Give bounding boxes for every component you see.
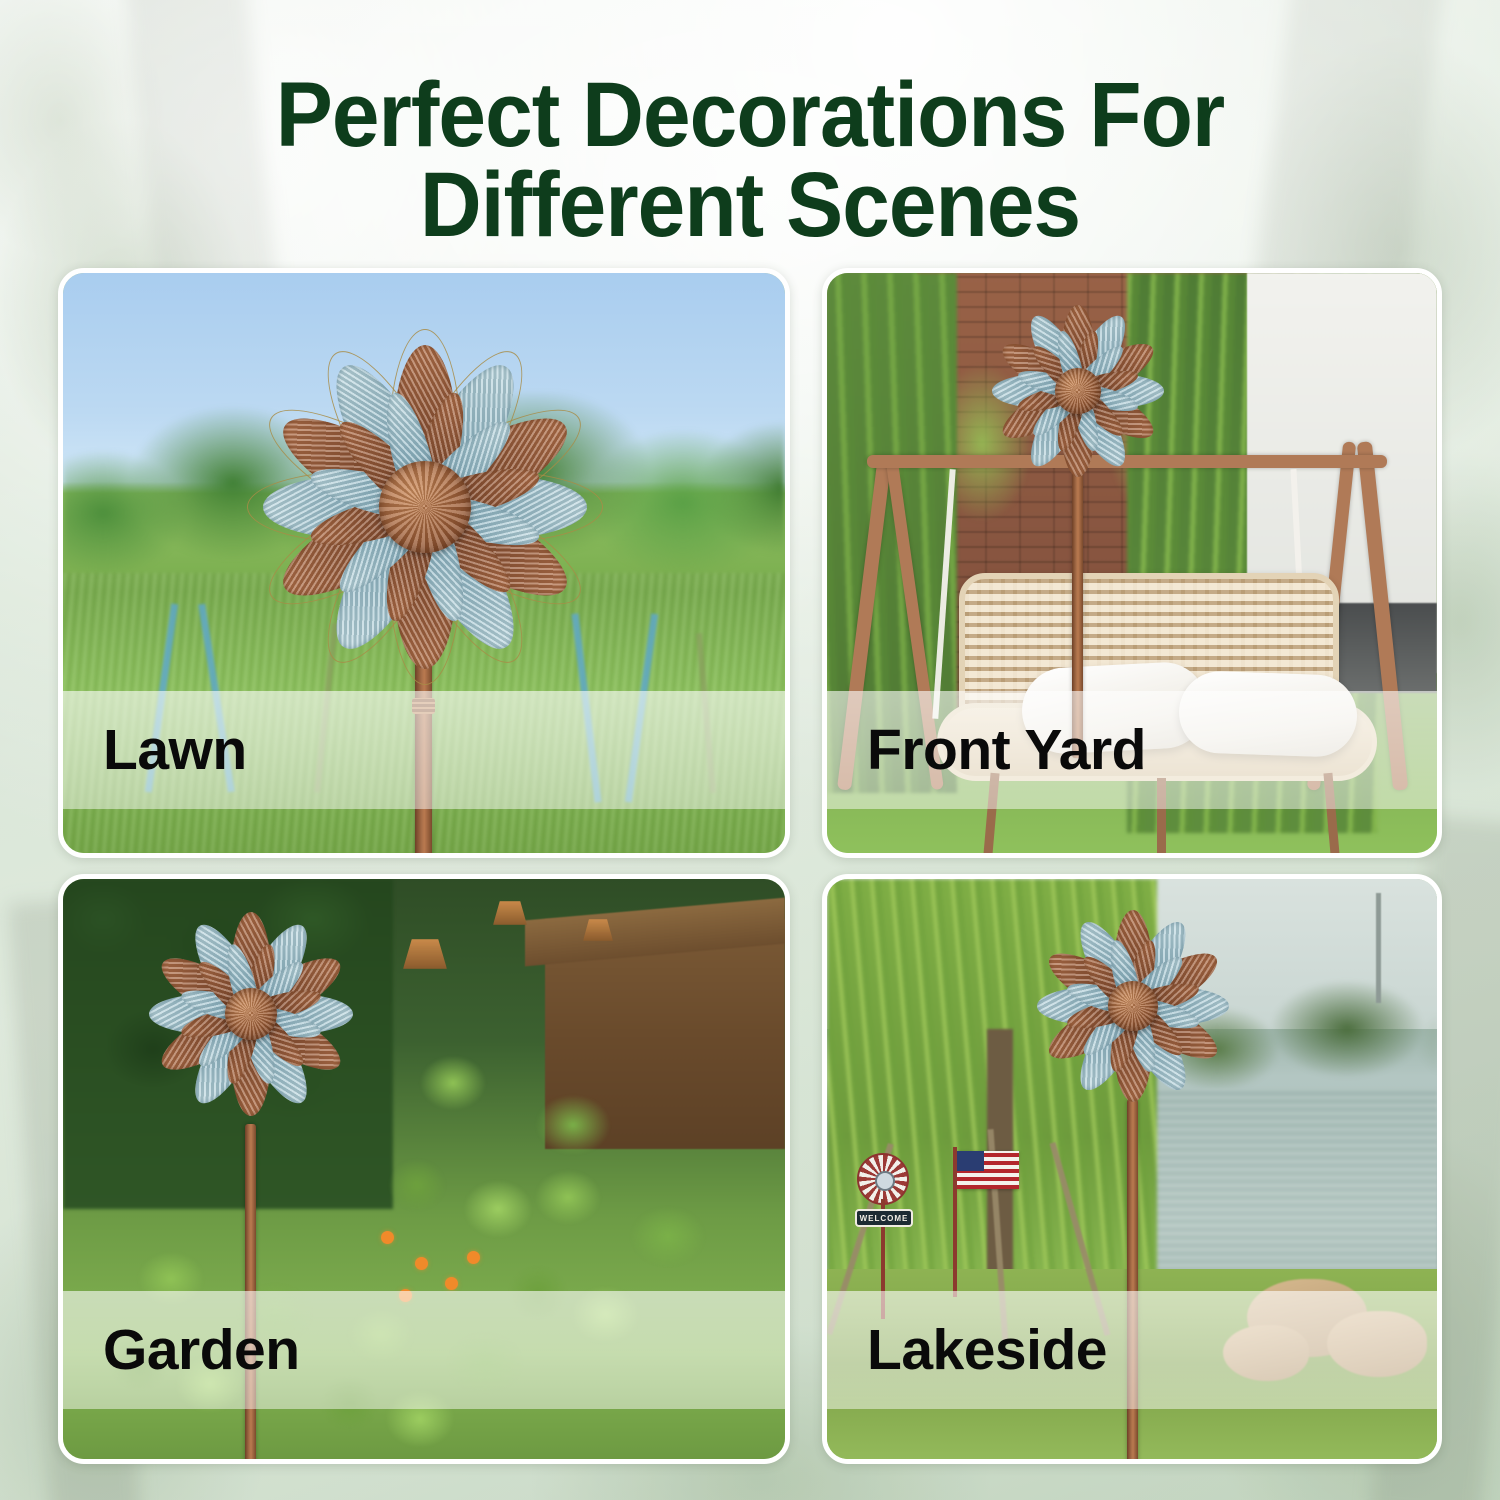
scene-label-band-garden: Garden [63,1291,785,1409]
flag-pole [953,1147,957,1297]
wind-spinner-lawn [167,317,682,697]
scene-label-front-yard: Front Yard [867,722,1146,779]
page-title: Perfect Decorations For Different Scenes [53,70,1448,250]
garden-flower [467,1251,480,1264]
promo-page: Perfect Decorations For Different Scenes [0,0,1500,1500]
scene-label-band-front-yard: Front Yard [827,691,1437,809]
scene-label-band-lakeside: Lakeside [827,1291,1437,1409]
wind-spinner-garden [115,899,387,1129]
scene-card-lakeside[interactable]: WELCOME [822,874,1442,1464]
wind-spinner-front-yard [945,293,1210,488]
garden-flower [445,1277,458,1290]
spinner-hub [379,461,471,553]
page-title-line-2: Different Scenes [53,160,1448,250]
garden-flower [415,1257,428,1270]
spinner-hub [225,988,277,1040]
page-title-line-1: Perfect Decorations For [276,64,1225,166]
spinner-hub [1055,368,1101,414]
scene-card-garden[interactable]: Garden [58,874,790,1464]
spinner-hub [1108,981,1158,1031]
scene-label-garden: Garden [103,1322,300,1379]
scene-card-lawn[interactable]: Lawn [58,268,790,858]
radio-tower [1376,893,1381,1003]
scene-label-lakeside: Lakeside [867,1322,1107,1379]
mini-pinwheel-spinner [857,1153,909,1205]
scene-label-band-lawn: Lawn [63,691,785,809]
scene-label-lawn: Lawn [103,722,247,779]
welcome-sign: WELCOME [855,1209,913,1227]
us-flag [957,1151,1019,1189]
wind-spinner-lakeside [997,901,1269,1111]
scene-card-grid: Lawn [58,268,1442,1464]
garden-flower [381,1231,394,1244]
scene-card-front-yard[interactable]: Front Yard [822,268,1442,858]
